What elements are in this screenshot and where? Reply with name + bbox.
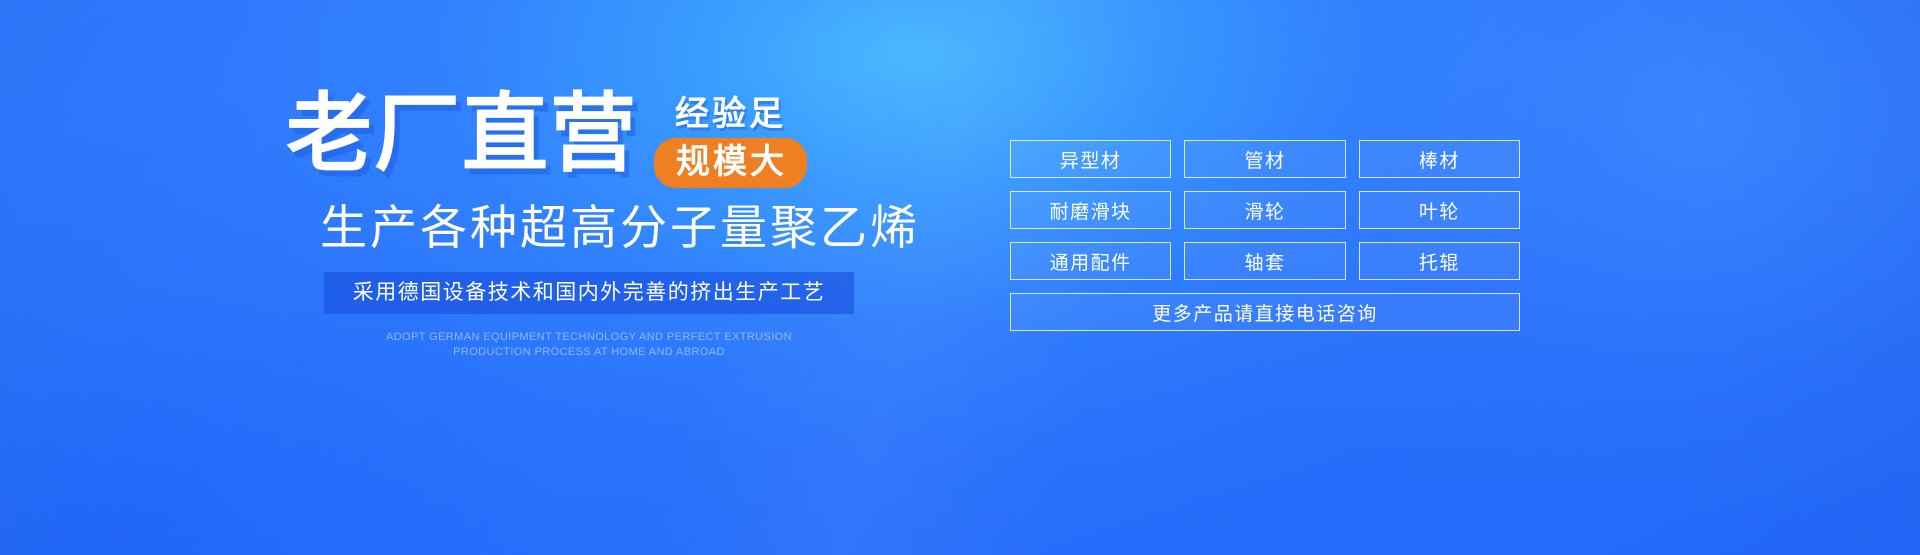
product-button-zhoutao[interactable]: 轴套: [1184, 242, 1345, 280]
hero-subheadline: 生产各种超高分子量聚乙烯: [320, 200, 966, 256]
product-category-grid: 异型材 管材 棒材 耐磨滑块 滑轮 叶轮 通用配件 轴套 托辊 更多产品请直接电…: [1010, 140, 1520, 331]
product-button-tuogun[interactable]: 托辊: [1359, 242, 1520, 280]
product-row-2: 耐磨滑块 滑轮 叶轮: [1010, 191, 1520, 229]
product-row-1: 异型材 管材 棒材: [1010, 140, 1520, 178]
page-title: 老厂直营: [286, 88, 638, 180]
product-row-3: 通用配件 轴套 托辊: [1010, 242, 1520, 280]
english-tagline: ADOPT GERMAN EQUIPMENT TECHNOLOGY AND PE…: [324, 330, 854, 360]
headline-badges: 经验足 规模大: [654, 88, 807, 188]
hero-text-block: 老厂直营 经验足 规模大 生产各种超高分子量聚乙烯 采用德国设备技术和国内外完善…: [286, 88, 966, 360]
product-button-yixingcai[interactable]: 异型材: [1010, 140, 1171, 178]
tagline-text: 采用德国设备技术和国内外完善的挤出生产工艺: [353, 281, 826, 305]
english-tagline-line-2: PRODUCTION PROCESS AT HOME AND ABROAD: [324, 345, 854, 360]
badge-scale: 规模大: [654, 138, 807, 188]
badge-experience: 经验足: [675, 94, 786, 134]
more-products-button[interactable]: 更多产品请直接电话咨询: [1010, 293, 1520, 331]
product-button-guancai[interactable]: 管材: [1184, 140, 1345, 178]
product-button-naimohuakuai[interactable]: 耐磨滑块: [1010, 191, 1171, 229]
product-button-tongyongpeijian[interactable]: 通用配件: [1010, 242, 1171, 280]
product-button-hualun[interactable]: 滑轮: [1184, 191, 1345, 229]
product-button-yelun[interactable]: 叶轮: [1359, 191, 1520, 229]
english-tagline-line-1: ADOPT GERMAN EQUIPMENT TECHNOLOGY AND PE…: [324, 330, 854, 345]
promo-banner: 老厂直营 经验足 规模大 生产各种超高分子量聚乙烯 采用德国设备技术和国内外完善…: [0, 0, 1920, 555]
tagline-bar: 采用德国设备技术和国内外完善的挤出生产工艺: [324, 272, 854, 314]
product-button-bangcai[interactable]: 棒材: [1359, 140, 1520, 178]
headline-row: 老厂直营 经验足 规模大: [286, 88, 966, 184]
